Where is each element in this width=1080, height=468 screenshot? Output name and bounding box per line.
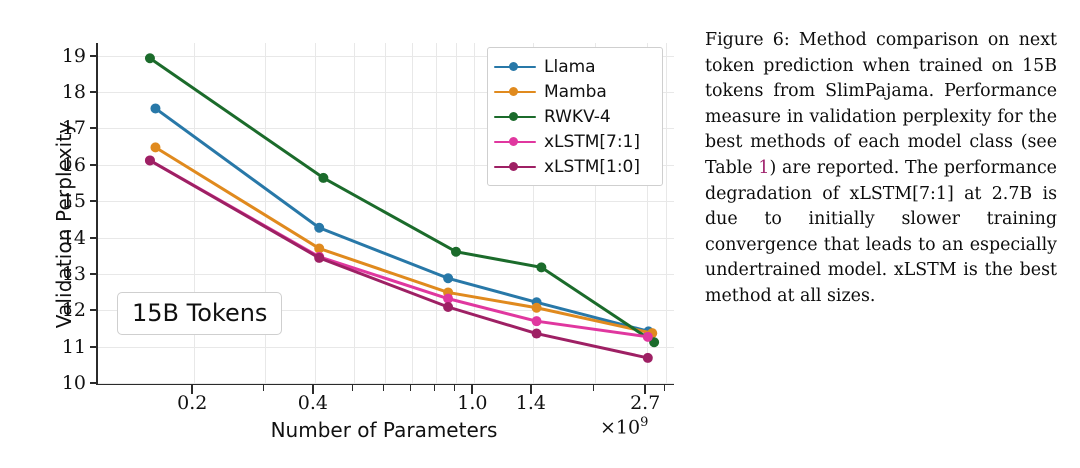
y-tick-label: 13: [28, 263, 86, 285]
legend-item-mamba[interactable]: Mamba: [494, 79, 654, 104]
data-point: [643, 353, 653, 363]
y-tick-mark: [90, 382, 96, 384]
x-tick-mark-major: [530, 385, 532, 394]
x-tick-label: 0.2: [177, 392, 207, 414]
data-point: [145, 155, 155, 165]
legend-label: RWKV-4: [544, 107, 611, 127]
x-tick-mark-minor: [352, 385, 353, 391]
x-tick-label: 0.4: [298, 392, 328, 414]
y-tick-label: 19: [28, 45, 86, 67]
y-tick-mark: [90, 237, 96, 239]
y-tick-label: 16: [28, 154, 86, 176]
figure-panel: Validation Perplexity 101112131415161718…: [0, 0, 690, 468]
legend-swatch-icon: [494, 60, 536, 74]
legend-item-xlstm-1-0[interactable]: xLSTM[1:0]: [494, 154, 654, 179]
legend-swatch-icon: [494, 110, 536, 124]
legend-swatch-icon: [494, 160, 536, 174]
data-point: [532, 303, 542, 313]
y-tick-label: 12: [28, 299, 86, 321]
y-tick-label: 10: [28, 372, 86, 394]
x-tick-mark-major: [471, 385, 473, 394]
data-point: [145, 53, 155, 63]
legend-item-rwkv-4[interactable]: RWKV-4: [494, 104, 654, 129]
x-tick-mark-minor: [263, 385, 264, 391]
data-point: [314, 223, 324, 233]
data-point: [536, 262, 546, 272]
x-axis-label: Number of Parameters: [96, 418, 672, 442]
gridline-horizontal: [98, 383, 674, 384]
caption-panel: Figure 6: Method comparison on next toke…: [705, 28, 1057, 310]
data-point: [532, 316, 542, 326]
data-point: [150, 142, 160, 152]
x-tick-mark-minor: [593, 385, 594, 391]
x-tick-mark-major: [312, 385, 314, 394]
data-point: [443, 273, 453, 283]
x-tick-mark-minor: [434, 385, 435, 391]
data-point: [150, 103, 160, 113]
data-point: [451, 247, 461, 257]
y-tick-mark: [90, 91, 96, 93]
x-tick-mark-major: [644, 385, 646, 394]
y-tick-label: 14: [28, 227, 86, 249]
x-axis-multiplier: ×109: [600, 415, 648, 438]
y-tick-label: 18: [28, 81, 86, 103]
y-tick-label: 15: [28, 190, 86, 212]
legend: LlamaMambaRWKV-4xLSTM[7:1]xLSTM[1:0]: [487, 47, 663, 186]
table-reference-link[interactable]: 1: [758, 158, 769, 178]
x-tick-label: 1.4: [516, 392, 546, 414]
data-point: [443, 302, 453, 312]
legend-item-llama[interactable]: Llama: [494, 54, 654, 79]
y-tick-mark: [90, 309, 96, 311]
y-tick-mark: [90, 164, 96, 166]
data-point: [314, 253, 324, 263]
x-tick-mark-minor: [454, 385, 455, 391]
y-tick-mark: [90, 346, 96, 348]
x-tick-label: 2.7: [630, 392, 660, 414]
x-tick-label: 1.0: [457, 392, 487, 414]
data-point: [643, 332, 653, 342]
legend-swatch-icon: [494, 85, 536, 99]
figure-page: Validation Perplexity 101112131415161718…: [0, 0, 1080, 468]
y-tick-mark: [90, 200, 96, 202]
x-tick-mark-minor: [383, 385, 384, 391]
y-tick-label: 11: [28, 336, 86, 358]
caption-part-2: ) are reported. The performance degradat…: [705, 158, 1057, 306]
y-tick-mark: [90, 55, 96, 57]
data-point: [318, 173, 328, 183]
caption-part-1: Figure 6: Method comparison on next toke…: [705, 30, 1057, 178]
y-tick-mark: [90, 273, 96, 275]
y-tick-label: 17: [28, 117, 86, 139]
legend-swatch-icon: [494, 135, 536, 149]
legend-label: Mamba: [544, 82, 607, 102]
legend-label: Llama: [544, 57, 596, 77]
x-tick-mark-major: [191, 385, 193, 394]
figure-caption: Figure 6: Method comparison on next toke…: [705, 28, 1057, 310]
legend-label: xLSTM[1:0]: [544, 157, 640, 177]
legend-item-xlstm-7-1[interactable]: xLSTM[7:1]: [494, 129, 654, 154]
annotation-15b-tokens: 15B Tokens: [117, 292, 282, 335]
data-point: [532, 329, 542, 339]
x-tick-mark-minor: [664, 385, 665, 391]
y-tick-mark: [90, 127, 96, 129]
legend-label: xLSTM[7:1]: [544, 132, 640, 152]
x-tick-mark-minor: [410, 385, 411, 391]
